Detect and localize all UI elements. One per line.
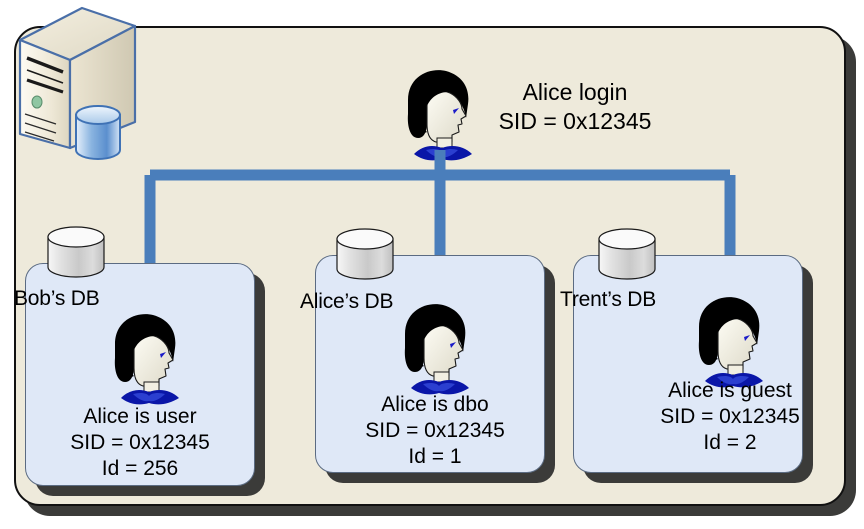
alices-db-info: Alice is dbo SID = 0x12345 Id = 1: [325, 392, 545, 470]
bobs-db-alice-person-icon: [103, 310, 189, 406]
server-tower-icon: [4, 2, 140, 160]
alices-db-info-line-2: Id = 1: [325, 444, 545, 470]
alices-db-info-line-1: SID = 0x12345: [325, 418, 545, 444]
trents-db-alice-person-icon: [687, 293, 773, 389]
trents-db-info-line-1: SID = 0x12345: [620, 404, 840, 430]
login-line-1: SID = 0x12345: [475, 107, 675, 136]
trents-db-info-line-2: Id = 2: [620, 430, 840, 456]
trents-db-info: Alice is guest SID = 0x12345 Id = 2: [620, 378, 840, 456]
bobs-db-cylinder-icon: [44, 224, 108, 280]
trents-db-label: Trent’s DB: [560, 288, 656, 312]
bobs-db-info-line-0: Alice is user: [30, 404, 250, 430]
alice-login-label: Alice login SID = 0x12345: [475, 78, 675, 136]
alices-db-alice-person-icon: [393, 300, 479, 396]
bobs-db-label: Bob’s DB: [14, 287, 100, 311]
bobs-db-info-line-1: SID = 0x12345: [30, 430, 250, 456]
alices-db-cylinder-icon: [333, 226, 397, 282]
alices-db-label: Alice’s DB: [300, 290, 393, 314]
trents-db-info-line-0: Alice is guest: [620, 378, 840, 404]
diagram-canvas: Alice login SID = 0x12345: [0, 0, 864, 529]
alices-db-info-line-0: Alice is dbo: [325, 392, 545, 418]
login-line-0: Alice login: [475, 78, 675, 107]
bobs-db-info: Alice is user SID = 0x12345 Id = 256: [30, 404, 250, 482]
trents-db-cylinder-icon: [595, 226, 659, 282]
alice-login-person-icon: [396, 66, 482, 162]
bobs-db-info-line-2: Id = 256: [30, 456, 250, 482]
